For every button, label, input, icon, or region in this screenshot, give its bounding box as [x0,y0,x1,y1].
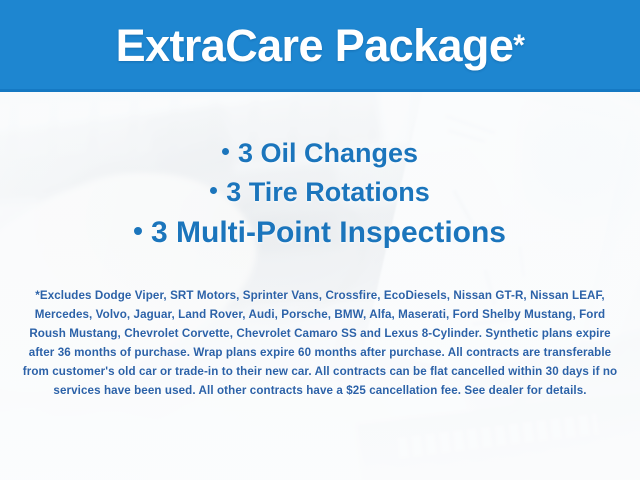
list-item: 3 Tire Rotations [0,179,640,206]
bullet-dot-icon [134,227,142,235]
benefits-list: 3 Oil Changes 3 Tire Rotations 3 Multi-P… [0,140,640,248]
list-item-label: 3 Tire Rotations [226,177,430,207]
list-item: 3 Multi-Point Inspections [0,218,640,248]
page-title-text: ExtraCare Package [116,20,514,72]
list-item-label: 3 Oil Changes [238,138,418,168]
disclaimer-text: *Excludes Dodge Viper, SRT Motors, Sprin… [22,286,618,400]
page-title: ExtraCare Package* [0,0,640,92]
list-item: 3 Oil Changes [0,140,640,167]
extracare-package-banner: ExtraCare Package* 3 Oil Changes 3 Tire … [0,0,640,480]
bullet-dot-icon [222,148,229,155]
bullet-dot-icon [210,187,217,194]
list-item-label: 3 Multi-Point Inspections [151,216,506,249]
